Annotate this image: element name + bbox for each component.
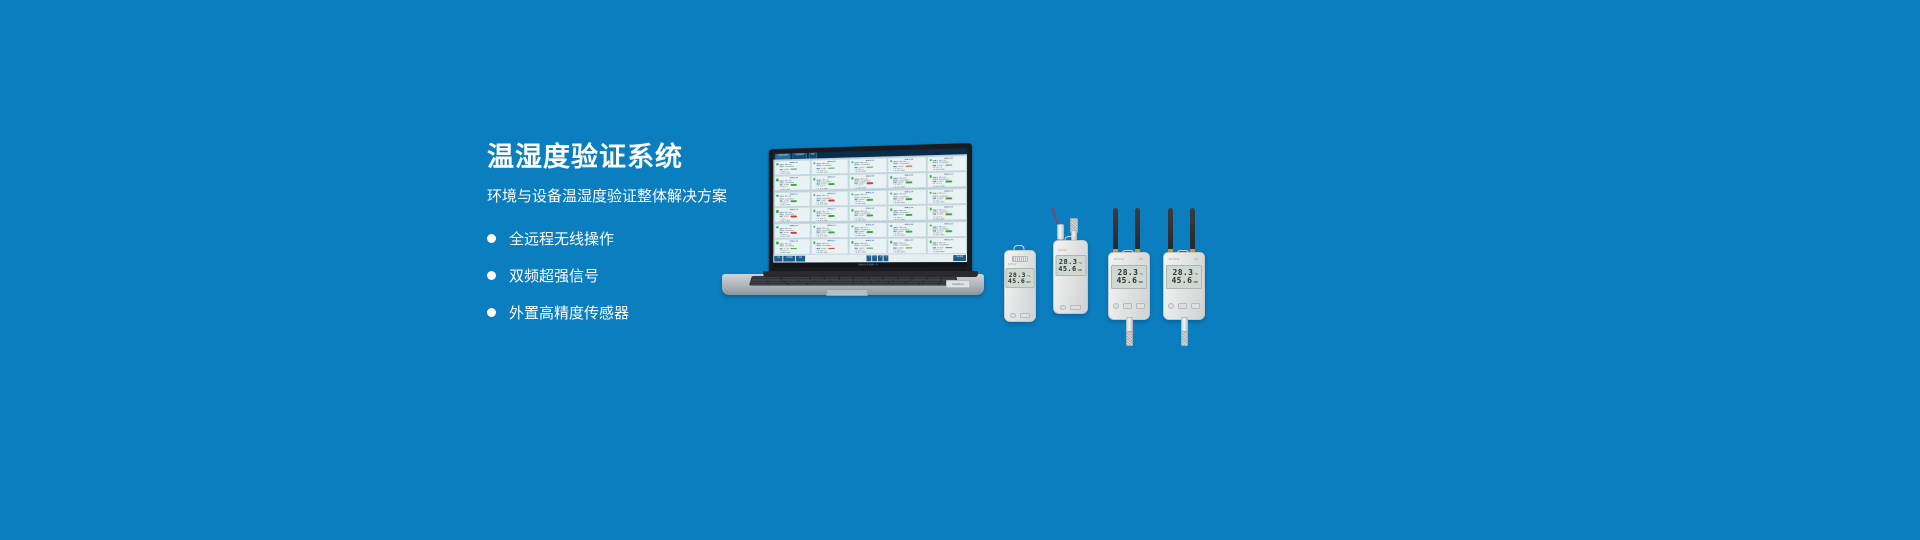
status-indicator-icon [813, 194, 815, 196]
lcd-display: 28.3 °C 45.6 %RH [1055, 255, 1086, 276]
logger-brand-label: ENOW [1058, 249, 1067, 252]
lcd-temperature-unit: °C [1078, 262, 1082, 265]
logger-power-button[interactable] [1168, 303, 1174, 309]
logger-model-label: H8 [1139, 257, 1143, 261]
logger-button-row [1109, 303, 1149, 309]
monitoring-cell[interactable]: 验证点 21设备号HE-T121序列号1121050021通道76.13%T 1… [774, 223, 811, 239]
logger-power-button[interactable] [1010, 313, 1016, 319]
logger-device-group: ENOW 28.3 °C 45.6 %RH [1000, 185, 1260, 320]
lcd-humidity-unit: %RH [1193, 282, 1198, 285]
status-badge [945, 181, 952, 183]
status-indicator-icon [776, 226, 778, 228]
antenna-left [1168, 208, 1173, 250]
status-indicator-icon [776, 210, 778, 212]
page-button-4[interactable]: 4 [884, 256, 889, 261]
status-indicator-icon [929, 159, 931, 162]
logger-function-button[interactable] [1178, 303, 1187, 309]
status-badge [905, 231, 912, 233]
monitoring-cell[interactable]: 验证点 08设备号HE-T108序列号1121050008通道75.44%T 1… [849, 173, 887, 190]
logger-body: ENOW 28.3 °C 45.6 %RH [1053, 240, 1088, 314]
logger-button-row [1005, 313, 1035, 319]
export-data-button[interactable]: 导出数据 [784, 256, 796, 261]
status-badge [828, 215, 834, 217]
monitoring-cell[interactable]: 验证点 19设备号HE-T119序列号1121050019通道75.07%T 1… [888, 205, 927, 221]
lcd-humidity-unit: %RH [1078, 270, 1082, 272]
logger-brand-label: ENOW [1169, 257, 1180, 261]
antenna-right [1135, 208, 1140, 250]
key [769, 283, 788, 284]
lcd-humidity-line: 45.6 %RH [1010, 278, 1031, 285]
monitoring-cell[interactable]: 验证点 24设备号HE-T124序列号1121050024通道76.44%T 1… [888, 221, 927, 237]
lcd-humidity-unit: %RH [1026, 282, 1030, 284]
external-probe-connector [1057, 224, 1064, 240]
status-badge [867, 231, 874, 233]
logger-menu-button[interactable] [1136, 303, 1145, 309]
monitoring-cell[interactable]: 验证点 15设备号HE-T115序列号1121050015通道74.41%T 1… [927, 188, 967, 205]
monitoring-cell[interactable]: 验证点 25设备号HE-T125序列号1121050025通道75.52%T 1… [927, 221, 967, 237]
lcd-humidity-line: 45.6 %RH [1059, 266, 1082, 273]
status-indicator-icon [890, 176, 892, 179]
status-badge [905, 182, 912, 184]
key [750, 283, 769, 284]
lcd-display: 28.3 °C 45.6 %RH [1166, 265, 1202, 289]
monitoring-cell[interactable]: 验证点 17设备号HE-T117序列号1121050017通道73.94%T 1… [811, 206, 848, 222]
monitoring-cell[interactable]: 验证点 02设备号HE-T102序列号1121050002通道76.14%T 1… [811, 158, 848, 175]
key [900, 283, 919, 284]
feature-label: 双频超强信号 [509, 265, 599, 286]
status-indicator-icon [851, 177, 853, 179]
feature-label: 外置高精度传感器 [509, 302, 629, 323]
status-indicator-icon [813, 242, 815, 244]
status-indicator-icon [851, 241, 853, 243]
monitoring-cell[interactable]: 验证点 26设备号HE-T126序列号1121050026通道73.71%T 1… [774, 239, 811, 255]
status-indicator-icon [851, 193, 853, 195]
status-indicator-icon [929, 224, 931, 227]
status-indicator-icon [890, 160, 892, 163]
status-bar: 系统运行正常 通道数：30 [773, 262, 967, 267]
logger-function-button[interactable] [1020, 313, 1030, 319]
status-indicator-icon [851, 161, 853, 163]
status-indicator-icon [813, 178, 815, 180]
status-badge [867, 182, 874, 184]
status-badge [791, 232, 797, 234]
monitoring-cell[interactable]: 验证点 12设备号HE-T112序列号1121050012通道74.66%T 1… [811, 190, 848, 206]
list-item: 外置高精度传感器 [487, 302, 817, 323]
logger-body: ENOW 28.3 °C 45.6 %RH [1004, 250, 1036, 322]
monitoring-cell[interactable]: 验证点 30设备号HE-T130序列号1121050030通道74.53%T 1… [927, 237, 967, 253]
monitoring-cell[interactable]: 验证点 14设备号HE-T114序列号1121050014通道75.73%T 1… [888, 189, 927, 206]
monitoring-cell[interactable]: 验证点 18设备号HE-T118序列号1121050018通道76.51%T 1… [849, 206, 887, 222]
status-badge [905, 214, 912, 216]
laptop-lid: 温湿度验证系统 历史数据查询 帮助 验证点 01设备号HE-T101序列号112… [769, 143, 972, 274]
status-badge [828, 231, 834, 233]
monitoring-cell[interactable]: 验证点 01设备号HE-T101序列号1121050001通道75.08%T 1… [774, 159, 811, 175]
logger-brand-label: ENOW [1114, 257, 1125, 261]
status-indicator-icon [929, 241, 931, 243]
logger-device: ENOW 28.3 °C 45.6 %RH [1053, 240, 1086, 320]
logger-model-label: H8 [1194, 257, 1198, 261]
status-badge [791, 216, 797, 218]
lcd-display: 28.3 °C 45.6 %RH [1006, 268, 1035, 288]
status-badge [945, 230, 952, 232]
monitoring-cell[interactable]: 验证点 27设备号HE-T127序列号1121050027通道76.29%T 1… [811, 238, 848, 254]
logger-brand-label: ENOW [1008, 263, 1017, 266]
status-indicator-icon [890, 241, 892, 243]
status-badge [828, 199, 834, 201]
lcd-humidity-value: 45.6 [1116, 277, 1137, 285]
status-badge [791, 200, 797, 202]
status-indicator-icon [776, 179, 778, 181]
product-banner: 温湿度验证系统 环境与设备温湿度验证整体解决方案 全远程无线操作 双频超强信号 … [0, 0, 1920, 540]
status-badge [791, 184, 797, 186]
lcd-humidity-value: 45.6 [1058, 266, 1076, 273]
status-badge [867, 215, 874, 217]
logger-menu-button[interactable] [1191, 303, 1200, 309]
status-indicator-icon [890, 192, 892, 194]
monitoring-cell[interactable]: 验证点 16设备号HE-T116序列号1121050016通道75.88%T 1… [774, 207, 811, 223]
status-indicator-icon [776, 163, 778, 165]
monitoring-cell[interactable]: 验证点 28设备号HE-T128序列号1121050028通道74.85%T 1… [849, 238, 887, 254]
laptop-keyboard [749, 276, 958, 285]
logger-device: ENOW H8 28.3 °C 45.6 %RH [1163, 208, 1203, 320]
page-button-1[interactable]: 1 [867, 256, 872, 261]
monitoring-cell[interactable]: 验证点 22设备号HE-T122序列号1121050022通道75.35%T 1… [811, 222, 848, 238]
monitoring-cell[interactable]: 验证点 09设备号HE-T109序列号1121050009通道76.02%T 1… [888, 172, 927, 189]
logger-function-button[interactable] [1070, 305, 1081, 311]
laptop-product-image: HUAWEI MateBook 温湿度验证系统 历史数据查询 帮助 验证点 01… [722, 143, 984, 295]
status-indicator-icon [929, 208, 931, 211]
monitoring-cell[interactable]: 验证点 03设备号HE-T103序列号1121050003通道74.92%T 1… [849, 157, 887, 174]
settings-button[interactable]: 设置 [796, 256, 805, 261]
lcd-humidity-value: 45.6 [1008, 278, 1025, 285]
logger-button-row [1164, 303, 1204, 309]
logger-function-button[interactable] [1123, 303, 1132, 309]
lcd-humidity-line: 45.6 %RH [1170, 277, 1198, 285]
status-indicator-icon [813, 162, 815, 164]
laptop-trackpad [826, 289, 868, 296]
status-badge [945, 214, 952, 216]
status-badge [867, 199, 874, 201]
status-badge [945, 197, 952, 199]
key [788, 283, 807, 284]
monitoring-cell[interactable]: 验证点 06设备号HE-T106序列号1121050006通道76.38%T 1… [774, 175, 811, 191]
monitoring-cell[interactable]: 验证点 04设备号HE-T104序列号1121050004通道73.55%T 1… [888, 156, 927, 173]
status-indicator-icon [929, 191, 931, 194]
start-button[interactable]: 开始 [774, 256, 782, 261]
key [920, 283, 939, 284]
status-badge [828, 183, 834, 185]
status-indicator-icon [813, 226, 815, 228]
monitoring-cell[interactable]: 验证点 10设备号HE-T110序列号1121050010通道73.87%T 1… [927, 171, 967, 188]
monitoring-grid: 验证点 01设备号HE-T101序列号1121050001通道75.08%T 1… [773, 154, 967, 255]
status-indicator-icon [890, 209, 892, 211]
lcd-temperature-unit: °C [1139, 273, 1143, 276]
laptop-hinge [763, 271, 978, 277]
feature-label: 全远程无线操作 [509, 228, 614, 249]
bullet-icon [487, 234, 496, 243]
monitoring-cell[interactable]: 验证点 05设备号HE-T105序列号1121050005通道75.61%T 1… [927, 155, 967, 172]
key-space [808, 283, 900, 284]
status-indicator-icon [890, 225, 892, 227]
exit-button[interactable]: 退出系统 [953, 255, 966, 261]
logger-body: ENOW H8 28.3 °C 45.6 %RH [1163, 252, 1205, 320]
bullet-icon [487, 308, 496, 317]
external-probe-sensor [1126, 331, 1133, 346]
monitoring-cell[interactable]: 验证点 29设备号HE-T129序列号1121050029通道75.96%T 1… [888, 238, 927, 254]
page-button-3[interactable]: 3 [878, 256, 883, 261]
status-indicator-icon [851, 209, 853, 211]
logger-device: ENOW H8 28.3 °C 45.6 %RH [1108, 208, 1148, 320]
page-button-2[interactable]: 2 [873, 256, 878, 261]
logger-power-button[interactable] [1113, 303, 1119, 309]
monitoring-cell[interactable]: 验证点 20设备号HE-T120序列号1121050020通道74.78%T 1… [927, 204, 967, 221]
status-indicator-icon [851, 225, 853, 227]
status-indicator-icon [776, 194, 778, 196]
status-indicator-icon [776, 242, 778, 244]
vent-grille [1012, 256, 1028, 262]
lcd-humidity-line: 45.6 %RH [1115, 277, 1143, 285]
lcd-display: 28.3 °C 45.6 %RH [1111, 265, 1147, 289]
bullet-icon [487, 271, 496, 280]
monitoring-cell[interactable]: 验证点 07设备号HE-T107序列号1121050007通道74.20%T 1… [811, 174, 848, 190]
status-badge [905, 198, 912, 200]
monitoring-cell[interactable]: 验证点 13设备号HE-T113序列号1121050013通道76.25%T 1… [849, 189, 887, 205]
external-probe-sensor [1181, 331, 1188, 346]
lcd-temperature-unit: °C [1194, 273, 1198, 276]
antenna-left [1113, 208, 1118, 250]
lcd-humidity-unit: %RH [1138, 282, 1143, 285]
logger-device: ENOW 28.3 °C 45.6 %RH [1004, 250, 1034, 320]
monitoring-cell[interactable]: 验证点 11设备号HE-T111序列号1121050011通道75.19%T 1… [774, 191, 811, 207]
laptop-lid-badge: MateBook [946, 280, 970, 288]
monitoring-cell[interactable]: 验证点 23设备号HE-T123序列号1121050023通道74.09%T 1… [849, 222, 887, 238]
logger-body: ENOW H8 28.3 °C 45.6 %RH [1108, 252, 1150, 320]
status-indicator-icon [813, 210, 815, 212]
logger-power-button[interactable] [1060, 305, 1066, 311]
lcd-humidity-value: 45.6 [1171, 277, 1192, 285]
logger-button-row [1054, 305, 1087, 311]
keyboard-row [750, 283, 957, 284]
laptop-screen: 温湿度验证系统 历史数据查询 帮助 验证点 01设备号HE-T101序列号112… [773, 148, 967, 267]
antenna-right [1190, 208, 1195, 250]
status-indicator-icon [929, 175, 931, 178]
